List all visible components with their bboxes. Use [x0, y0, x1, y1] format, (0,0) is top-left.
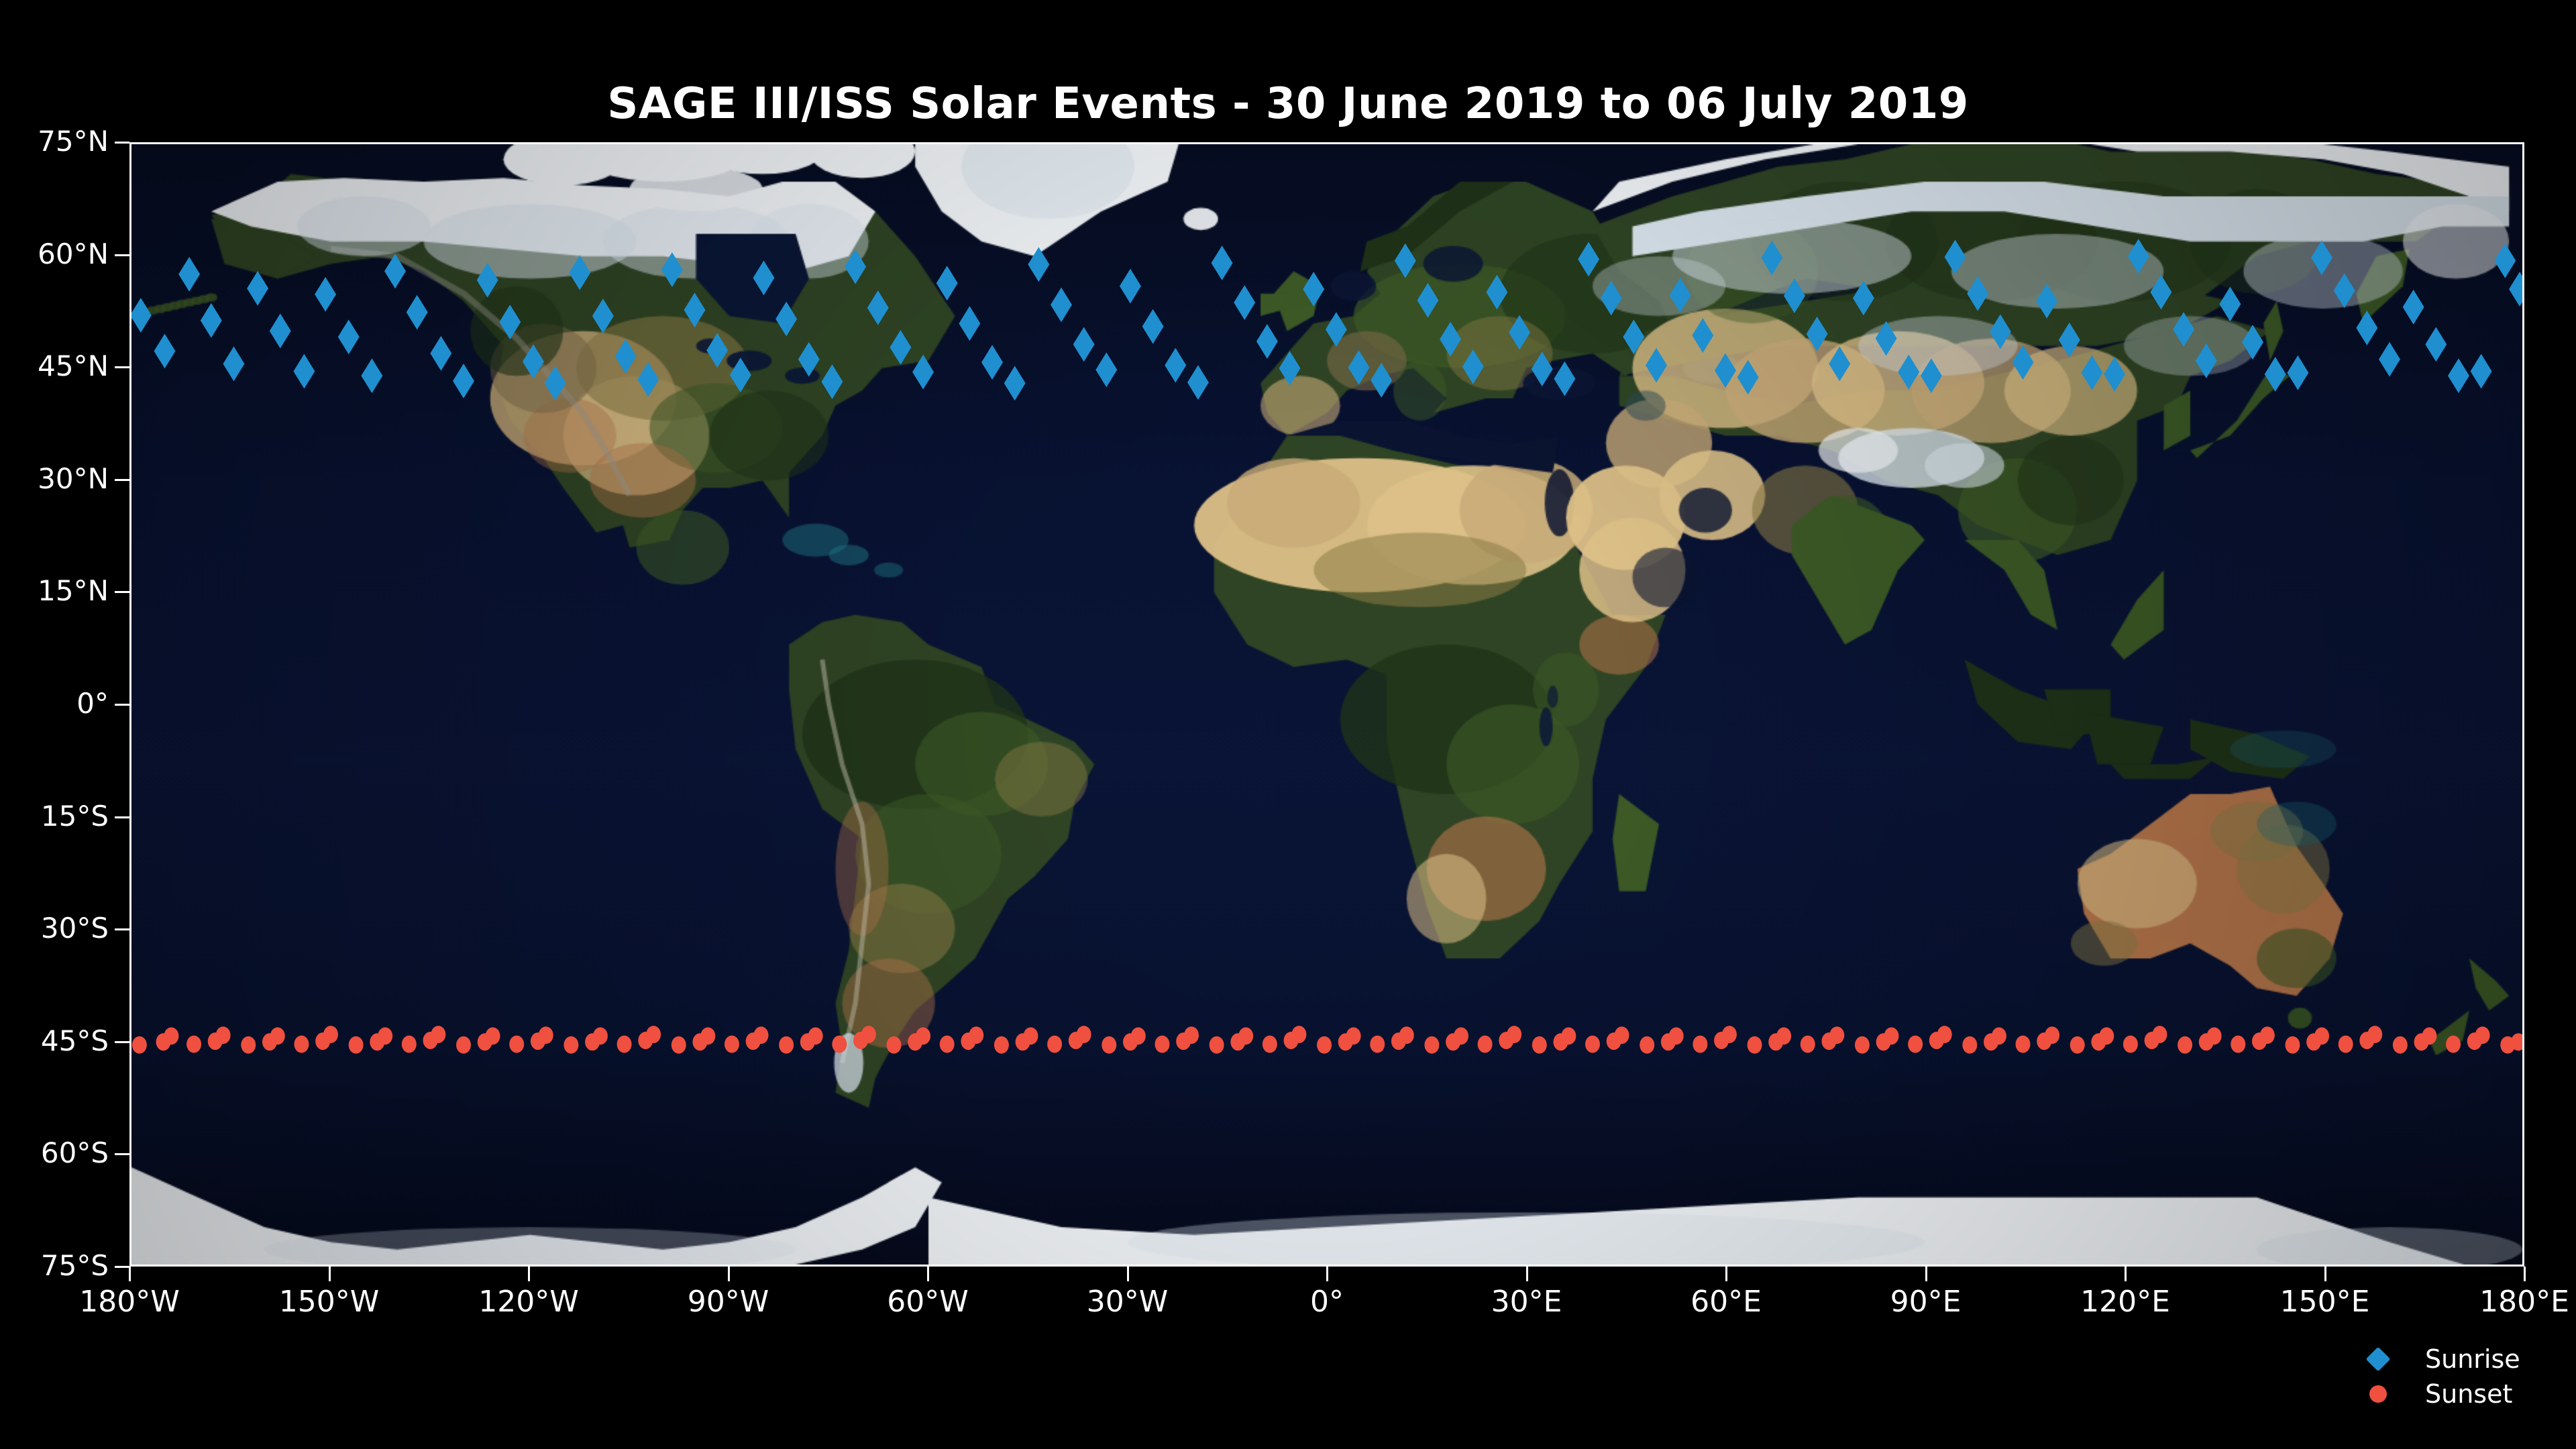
x-tick-label: 180°E [2479, 1285, 2569, 1319]
sunset-marker[interactable] [2070, 1036, 2085, 1054]
sunset-marker[interactable] [1424, 1036, 1439, 1054]
y-tick [115, 591, 129, 593]
x-tick-label: 150°E [2280, 1285, 2370, 1319]
sunrise-marker[interactable] [201, 303, 222, 338]
sunset-marker[interactable] [563, 1036, 578, 1054]
sunset-marker[interactable] [1077, 1026, 1091, 1043]
sunrise-marker[interactable] [867, 290, 889, 325]
sunset-marker[interactable] [646, 1026, 661, 1043]
sunrise-marker[interactable] [2311, 240, 2332, 275]
sunrise-marker[interactable] [338, 319, 360, 354]
sunset-marker[interactable] [1801, 1036, 1815, 1053]
sunrise-marker[interactable] [1829, 346, 1850, 381]
sunset-marker[interactable] [2393, 1036, 2408, 1054]
page-title: SAGE III/ISS Solar Events - 30 June 2019… [0, 79, 2576, 129]
sunrise-marker[interactable] [2128, 239, 2149, 274]
sunset-marker[interactable] [270, 1027, 285, 1044]
sunrise-marker[interactable] [1554, 362, 1575, 396]
sunrise-marker[interactable] [2403, 290, 2424, 325]
sunset-marker[interactable] [2207, 1027, 2222, 1044]
sunset-marker[interactable] [132, 1036, 147, 1054]
sunrise-marker[interactable] [2509, 272, 2522, 307]
sunset-marker[interactable] [1748, 1036, 1762, 1054]
sunset-marker[interactable] [2285, 1036, 2300, 1054]
sunrise-marker[interactable] [1807, 317, 1828, 352]
sunrise-marker[interactable] [2448, 358, 2469, 393]
y-tick-label: 15°S [41, 800, 109, 833]
sunrise-marker[interactable] [1990, 315, 2011, 350]
sunset-marker[interactable] [1102, 1036, 1116, 1054]
sunset-marker[interactable] [1585, 1036, 1600, 1053]
y-tick-label: 45°N [38, 350, 109, 382]
sunrise-marker[interactable] [477, 263, 498, 298]
y-tick [115, 1153, 129, 1155]
sunrise-marker[interactable] [407, 295, 428, 330]
x-tick-label: 120°E [2080, 1285, 2170, 1319]
sunrise-marker[interactable] [1303, 272, 1324, 307]
sunset-marker[interactable] [779, 1036, 794, 1054]
x-tick-label: 150°W [279, 1285, 380, 1319]
sunrise-marker[interactable] [2494, 244, 2516, 278]
sunset-marker[interactable] [916, 1027, 930, 1044]
sunset-marker[interactable] [700, 1027, 715, 1044]
x-tick-label: 60°W [887, 1285, 969, 1319]
sunset-marker[interactable] [2152, 1026, 2167, 1043]
series-sunset [132, 1026, 2522, 1053]
sunrise-marker[interactable] [2265, 357, 2286, 392]
sunset-marker[interactable] [994, 1036, 1009, 1054]
sunset-marker[interactable] [349, 1036, 364, 1054]
sunset-marker[interactable] [1155, 1036, 1169, 1053]
sunrise-marker[interactable] [223, 346, 244, 381]
sunset-marker[interactable] [164, 1027, 178, 1044]
sunrise-marker[interactable] [453, 364, 474, 398]
x-tick [528, 1267, 530, 1281]
sunrise-marker[interactable] [1876, 321, 1897, 356]
sunrise-marker[interactable] [2150, 275, 2171, 310]
sunset-marker[interactable] [509, 1036, 524, 1053]
sunrise-marker[interactable] [936, 266, 958, 301]
sunrise-marker[interactable] [1921, 358, 1942, 393]
sunrise-marker[interactable] [293, 354, 315, 389]
sunset-marker[interactable] [2178, 1036, 2192, 1054]
sunset-marker[interactable] [1640, 1036, 1654, 1054]
sunset-marker[interactable] [1855, 1036, 1870, 1054]
sunrise-marker[interactable] [1256, 324, 1278, 359]
sunset-marker[interactable] [1908, 1036, 1923, 1053]
sunrise-marker[interactable] [845, 250, 866, 284]
sunset-marker[interactable] [241, 1036, 256, 1054]
sunrise-marker[interactable] [1348, 350, 1370, 385]
x-tick-label: 0° [1310, 1285, 1344, 1319]
sunset-marker[interactable] [1184, 1026, 1199, 1044]
sunrise-marker[interactable] [730, 358, 751, 392]
sunrise-marker[interactable] [1646, 348, 1667, 383]
sunset-marker[interactable] [456, 1036, 471, 1054]
solar-event-marker-layer [131, 144, 2522, 1265]
sunrise-marker[interactable] [1737, 360, 1759, 394]
sunrise-marker[interactable] [637, 362, 659, 397]
x-tick-label: 60°E [1690, 1285, 1762, 1319]
x-tick [2524, 1267, 2526, 1281]
sunset-marker[interactable] [1023, 1027, 1038, 1044]
y-tick [115, 254, 129, 256]
sunrise-marker[interactable] [1051, 287, 1072, 322]
sunrise-marker[interactable] [1509, 315, 1530, 350]
sunset-marker[interactable] [539, 1026, 553, 1044]
sunset-marker[interactable] [969, 1026, 983, 1044]
x-tick [329, 1267, 331, 1281]
sunset-marker[interactable] [832, 1036, 847, 1053]
sunset-marker[interactable] [1561, 1027, 1576, 1044]
x-tick-label: 90°W [688, 1285, 769, 1319]
x-tick-label: 90°E [1890, 1285, 1962, 1319]
sunset-marker[interactable] [1615, 1026, 1629, 1044]
sunset-marker[interactable] [323, 1026, 338, 1043]
x-tick [1925, 1267, 1927, 1281]
y-tick-label: 60°N [38, 237, 109, 270]
sunrise-marker[interactable] [1234, 285, 1255, 320]
sunset-marker[interactable] [216, 1026, 231, 1044]
sunrise-marker[interactable] [1142, 309, 1164, 344]
sunset-marker[interactable] [486, 1027, 500, 1044]
y-tick-label: 75°N [38, 125, 109, 158]
sunset-marker[interactable] [378, 1027, 392, 1044]
sunset-marker[interactable] [1346, 1027, 1361, 1044]
sunrise-marker[interactable] [131, 298, 152, 333]
y-tick [115, 816, 129, 818]
sunset-marker[interactable] [1776, 1027, 1791, 1044]
sunrise-marker[interactable] [2219, 286, 2241, 321]
x-tick [1725, 1267, 1727, 1281]
y-tick-label: 15°N [38, 574, 109, 607]
sunrise-marker[interactable] [1898, 355, 1919, 390]
sunset-marker[interactable] [1478, 1036, 1493, 1053]
x-tick [2324, 1267, 2326, 1281]
map-plot-area[interactable] [129, 142, 2524, 1267]
x-tick-label: 30°W [1087, 1285, 1169, 1319]
legend-label: Sunrise [2425, 1344, 2520, 1374]
y-tick [115, 479, 129, 481]
y-tick-label: 30°N [38, 462, 109, 495]
x-tick [1526, 1267, 1528, 1281]
sunrise-marker[interactable] [499, 305, 521, 339]
sunrise-marker[interactable] [775, 302, 797, 337]
sunrise-marker[interactable] [2059, 323, 2080, 358]
sunrise-marker[interactable] [1670, 278, 1691, 313]
y-tick-label: 60°S [41, 1136, 109, 1169]
x-tick [129, 1267, 131, 1281]
sunset-circle-icon [2369, 1385, 2387, 1403]
y-tick [115, 1266, 129, 1268]
sunset-marker[interactable] [1238, 1027, 1253, 1044]
x-tick-label: 180°W [79, 1285, 180, 1319]
y-tick [115, 142, 129, 144]
sunrise-marker[interactable] [2287, 356, 2308, 390]
sunset-marker[interactable] [186, 1036, 201, 1053]
sunset-marker[interactable] [1693, 1036, 1707, 1053]
sunset-marker[interactable] [1263, 1036, 1277, 1053]
sunrise-marker[interactable] [178, 257, 200, 292]
sunrise-marker[interactable] [798, 342, 820, 377]
y-tick [115, 928, 129, 930]
sunrise-marker[interactable] [2012, 345, 2034, 380]
sunset-marker[interactable] [2123, 1036, 2138, 1053]
series-sunrise [131, 239, 2522, 400]
sunset-marker[interactable] [1962, 1036, 1977, 1054]
sunrise-marker[interactable] [959, 306, 980, 341]
sunrise-marker[interactable] [2334, 273, 2355, 308]
sunset-marker[interactable] [1507, 1026, 1521, 1043]
sunrise-marker[interactable] [545, 366, 566, 400]
sunset-marker[interactable] [2260, 1026, 2275, 1044]
sunset-marker[interactable] [672, 1036, 686, 1054]
y-tick [115, 1041, 129, 1043]
sunset-marker[interactable] [2422, 1027, 2436, 1044]
x-tick-label: 120°W [478, 1285, 579, 1319]
sunrise-marker[interactable] [1440, 322, 1461, 357]
sunset-marker[interactable] [2231, 1036, 2245, 1053]
sunrise-marker[interactable] [1462, 350, 1484, 384]
sunrise-marker[interactable] [1853, 280, 1874, 315]
sunrise-marker[interactable] [270, 313, 291, 348]
sunrise-marker[interactable] [1945, 239, 1966, 274]
sunset-marker[interactable] [2446, 1036, 2461, 1053]
sunset-marker[interactable] [2475, 1026, 2490, 1044]
x-tick-label: 30°E [1491, 1285, 1562, 1319]
y-tick-label: 45°S [41, 1024, 109, 1057]
sunrise-marker[interactable] [2471, 354, 2492, 389]
sunset-marker[interactable] [1532, 1036, 1547, 1054]
sunset-marker[interactable] [1291, 1026, 1306, 1043]
sunrise-marker[interactable] [684, 292, 706, 327]
sunrise-marker[interactable] [1165, 348, 1186, 383]
sunset-marker[interactable] [861, 1026, 876, 1043]
sunrise-marker[interactable] [1028, 247, 1049, 282]
sunrise-marker[interactable] [2425, 327, 2447, 362]
sunrise-marker[interactable] [1486, 275, 1507, 310]
sunrise-marker[interactable] [247, 271, 268, 306]
sunset-marker[interactable] [1454, 1027, 1468, 1044]
sunrise-marker[interactable] [2036, 284, 2057, 319]
sunrise-marker[interactable] [661, 252, 683, 287]
sunrise-marker[interactable] [1715, 353, 1736, 388]
sunrise-marker[interactable] [1326, 312, 1347, 347]
sunrise-marker[interactable] [706, 333, 728, 368]
sunset-marker[interactable] [1937, 1026, 1952, 1043]
sunset-marker[interactable] [808, 1027, 823, 1044]
sunset-marker[interactable] [1047, 1036, 1062, 1053]
sunrise-marker[interactable] [1279, 351, 1301, 386]
y-tick-label: 0° [76, 687, 109, 720]
sunset-marker[interactable] [1722, 1026, 1737, 1043]
sunrise-marker[interactable] [1578, 242, 1599, 277]
y-tick [115, 366, 129, 368]
sunrise-marker[interactable] [1073, 327, 1095, 362]
sunrise-marker[interactable] [2104, 357, 2125, 392]
sunrise-marker[interactable] [753, 260, 775, 295]
sunset-marker[interactable] [887, 1036, 902, 1054]
x-tick [1127, 1267, 1129, 1281]
sunrise-marker[interactable] [2242, 325, 2263, 360]
sunset-marker[interactable] [1884, 1027, 1899, 1044]
figure-root: SAGE III/ISS Solar Events - 30 June 2019… [0, 0, 2576, 1449]
sunset-marker[interactable] [2339, 1036, 2353, 1053]
sunset-marker[interactable] [431, 1026, 445, 1043]
x-tick [2125, 1267, 2127, 1281]
sunset-marker[interactable] [2016, 1036, 2031, 1053]
sunset-marker[interactable] [2045, 1026, 2059, 1044]
sunrise-marker[interactable] [2082, 356, 2103, 390]
x-tick [927, 1267, 929, 1281]
sunset-marker[interactable] [1317, 1036, 1332, 1054]
sunrise-diamond-icon [2366, 1347, 2391, 1372]
sunrise-marker[interactable] [384, 254, 406, 288]
sunset-marker[interactable] [294, 1036, 309, 1053]
sunrise-marker[interactable] [361, 358, 382, 393]
sunset-marker[interactable] [1669, 1027, 1684, 1044]
sunrise-marker[interactable] [1692, 318, 1713, 353]
sunrise-marker[interactable] [981, 345, 1003, 380]
sunset-marker[interactable] [1829, 1026, 1844, 1044]
sunrise-marker[interactable] [890, 330, 911, 365]
sunrise-marker[interactable] [1395, 244, 1416, 278]
sunrise-marker[interactable] [430, 336, 451, 371]
sunrise-marker[interactable] [2356, 311, 2377, 345]
sunset-marker[interactable] [2367, 1026, 2382, 1043]
sunrise-marker[interactable] [1623, 319, 1644, 354]
y-tick-label: 30°S [41, 912, 109, 945]
sunrise-marker[interactable] [1784, 278, 1805, 313]
sunrise-marker[interactable] [821, 364, 843, 399]
sunrise-marker[interactable] [523, 344, 544, 379]
sunrise-marker[interactable] [1417, 283, 1439, 318]
sunset-marker[interactable] [940, 1036, 955, 1053]
sunset-marker[interactable] [754, 1026, 769, 1044]
legend-item[interactable]: Sunrise [2341, 1342, 2569, 1377]
sunrise-marker[interactable] [1371, 363, 1392, 398]
sunset-marker[interactable] [593, 1027, 608, 1044]
y-tick [115, 704, 129, 706]
sunrise-marker[interactable] [615, 339, 637, 374]
sunrise-marker[interactable] [1187, 365, 1209, 400]
sunrise-marker[interactable] [1532, 352, 1553, 386]
sunrise-marker[interactable] [315, 277, 336, 312]
sunrise-marker[interactable] [1095, 352, 1117, 387]
sunrise-marker[interactable] [2379, 342, 2400, 377]
sunset-marker[interactable] [1370, 1036, 1385, 1053]
sunrise-marker[interactable] [1967, 276, 1988, 311]
sunrise-marker[interactable] [2173, 312, 2194, 347]
sunrise-marker[interactable] [1212, 246, 1233, 280]
sunset-marker[interactable] [2099, 1027, 2114, 1044]
sunrise-marker[interactable] [569, 256, 590, 290]
sunrise-marker[interactable] [1601, 280, 1622, 315]
sunrise-marker[interactable] [154, 333, 176, 368]
legend-label: Sunset [2425, 1379, 2512, 1409]
x-tick [1326, 1267, 1328, 1281]
sunset-marker[interactable] [1992, 1027, 2006, 1044]
sunset-marker[interactable] [1210, 1036, 1224, 1054]
sunrise-marker[interactable] [2196, 343, 2217, 378]
y-tick-label: 75°S [41, 1249, 109, 1282]
x-tick [728, 1267, 730, 1281]
sunrise-marker[interactable] [912, 355, 934, 390]
sunset-marker[interactable] [402, 1036, 417, 1053]
sunset-marker[interactable] [1399, 1026, 1414, 1044]
sunrise-marker[interactable] [1120, 269, 1141, 304]
sunset-marker[interactable] [2314, 1027, 2329, 1044]
sunset-marker[interactable] [1131, 1027, 1146, 1044]
sunset-marker[interactable] [617, 1036, 632, 1053]
legend-item[interactable]: Sunset [2341, 1377, 2569, 1411]
sunrise-marker[interactable] [1004, 366, 1026, 400]
sunset-marker[interactable] [724, 1036, 739, 1053]
legend: SunriseSunset [2341, 1342, 2569, 1411]
sunrise-marker[interactable] [1761, 240, 1782, 275]
sunrise-marker[interactable] [592, 299, 614, 333]
